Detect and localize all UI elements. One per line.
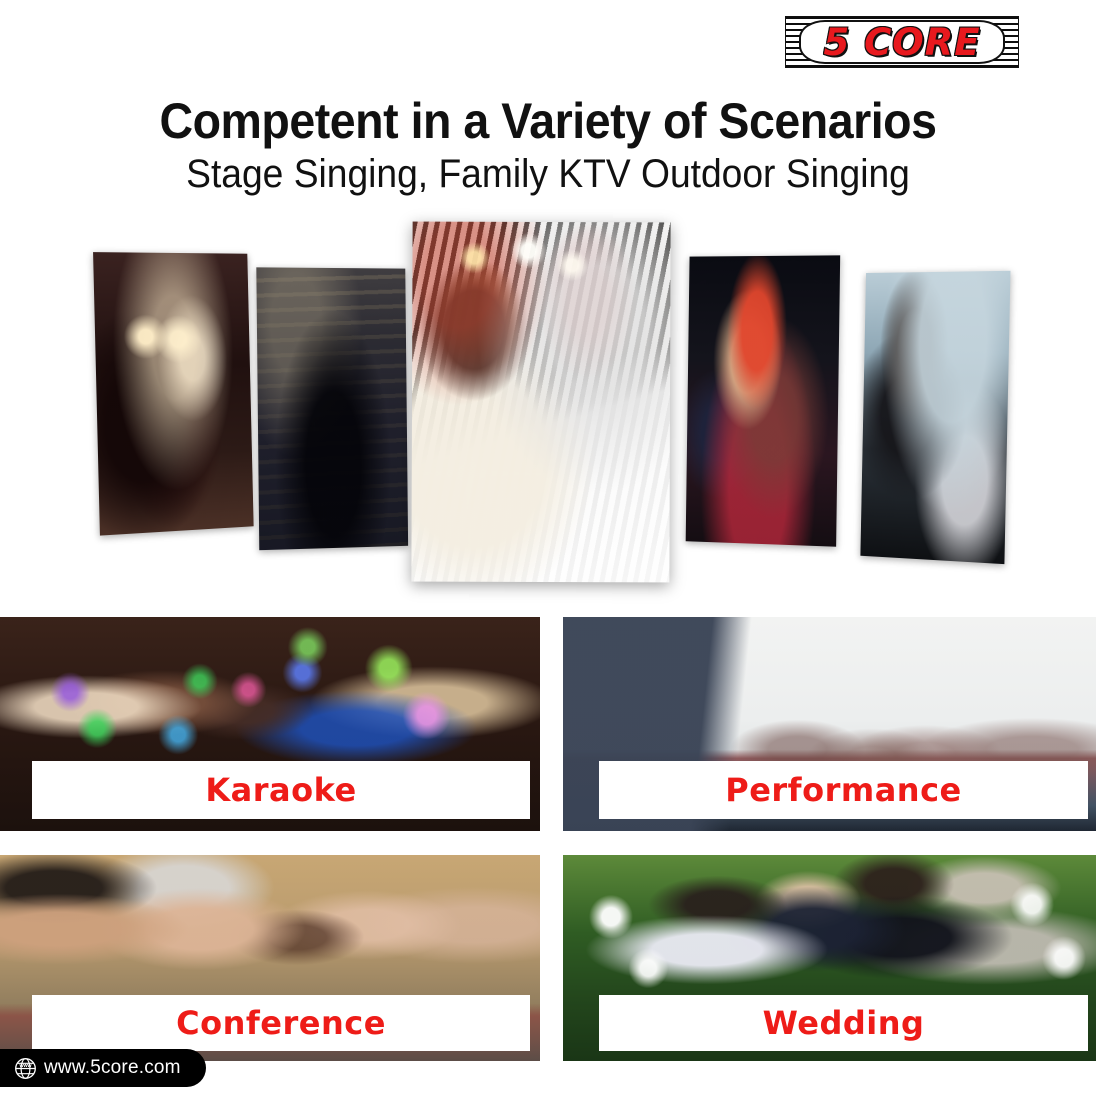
page-title: Competent in a Variety of Scenarios <box>38 94 1057 148</box>
fan-photo-singer-image <box>686 255 841 546</box>
svg-text:www: www <box>18 1062 32 1068</box>
scenario-photo-fan <box>0 222 1096 592</box>
fan-photo-child-piano <box>411 222 670 583</box>
fan-photo-auditorium <box>256 267 408 550</box>
fan-photo-auditorium-image <box>256 267 408 550</box>
scene-label-performance: Performance <box>599 761 1088 819</box>
scene-tile-grid: Karaoke Performance Conference Wedding <box>0 617 1096 1061</box>
brand-logo: 5 CORE <box>785 16 1019 68</box>
fan-photo-drummer <box>860 271 1010 564</box>
logo-text: 5 CORE <box>785 16 1019 68</box>
scene-label-karaoke: Karaoke <box>32 761 530 819</box>
scene-label-wedding: Wedding <box>599 995 1088 1051</box>
fan-photo-drummer-image <box>860 271 1010 564</box>
fan-photo-singer <box>686 255 841 546</box>
scene-tile-performance: Performance <box>563 617 1096 831</box>
fan-photo-ballet-image <box>93 252 254 536</box>
globe-www-icon: www <box>14 1057 37 1080</box>
website-badge: www www.5core.com <box>0 1049 206 1087</box>
page-subtitle: Stage Singing, Family KTV Outdoor Singin… <box>38 152 1057 196</box>
scene-tile-wedding: Wedding <box>563 855 1096 1061</box>
scene-tile-karaoke: Karaoke <box>0 617 540 831</box>
scene-label-conference: Conference <box>32 995 530 1051</box>
fan-photo-ballet <box>93 252 254 536</box>
website-url: www.5core.com <box>44 1057 181 1079</box>
scene-tile-conference: Conference <box>0 855 540 1061</box>
promo-graphic: 5 CORE Competent in a Variety of Scenari… <box>0 0 1096 1096</box>
fan-photo-child-piano-image <box>411 222 670 583</box>
